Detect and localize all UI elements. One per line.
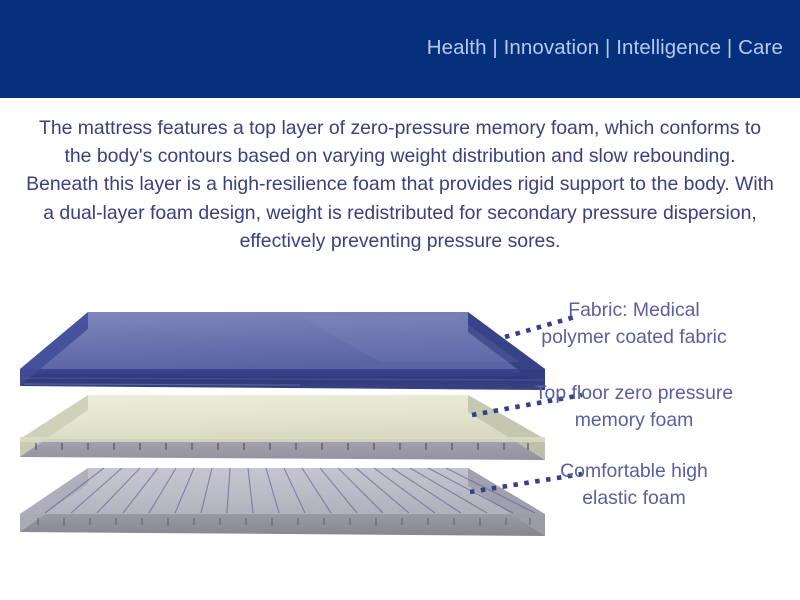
intro-paragraph: The mattress features a top layer of zer… — [26, 114, 774, 255]
banner-tagline: Health | Innovation | Intelligence | Car… — [427, 36, 783, 60]
memory-foam-edge-band — [20, 437, 545, 442]
slide-root: Health | Innovation | Intelligence | Car… — [0, 0, 800, 600]
layer-fabric-cover — [20, 312, 545, 390]
layer-elastic-foam — [20, 468, 545, 536]
callout-memory-foam: Top floor zero pressure memory foam — [484, 380, 784, 434]
elastic-foam-top-face — [20, 468, 545, 514]
callout-fabric-cover: Fabric: Medical polymer coated fabric — [484, 297, 784, 351]
memory-foam-top-face — [20, 395, 545, 439]
header-banner: Health | Innovation | Intelligence | Car… — [0, 0, 800, 98]
layer-memory-foam — [20, 395, 545, 460]
callout-elastic-foam: Comfortable high elastic foam — [484, 458, 784, 512]
memory-foam-front-face — [20, 439, 545, 460]
elastic-foam-front-face — [20, 514, 545, 536]
